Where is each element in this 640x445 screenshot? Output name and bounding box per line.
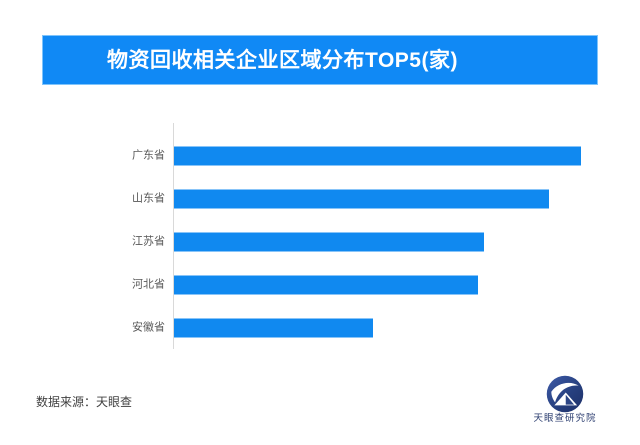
bar-fill bbox=[174, 276, 478, 295]
tianyancha-logo-icon bbox=[546, 375, 584, 413]
bar-category-label: 安徽省 bbox=[132, 323, 165, 334]
bar-fill bbox=[174, 319, 373, 338]
bar-row: 广东省 bbox=[174, 135, 598, 177]
brand-name-label: 天眼查研究院 bbox=[533, 414, 596, 424]
brand-logo: 天眼查研究院 bbox=[524, 375, 606, 430]
bar-row: 河北省 bbox=[174, 264, 598, 306]
bar-category-label: 广东省 bbox=[132, 151, 165, 162]
infographic-canvas: 物资回收相关企业区域分布TOP5(家) 广东省 山东省 江苏省 河北省 安徽省 bbox=[0, 0, 640, 445]
bar-chart: 广东省 山东省 江苏省 河北省 安徽省 bbox=[42, 112, 598, 352]
bar-category-label: 江苏省 bbox=[132, 237, 165, 248]
chart-bars-layer: 广东省 山东省 江苏省 河北省 安徽省 bbox=[174, 123, 598, 349]
bar-row: 安徽省 bbox=[174, 307, 598, 349]
page-title: 物资回收相关企业区域分布TOP5(家) bbox=[107, 50, 458, 71]
bar-category-label: 山东省 bbox=[132, 194, 165, 205]
data-source-note: 数据来源：天眼查 bbox=[36, 396, 132, 408]
bar-row: 江苏省 bbox=[174, 221, 598, 263]
bar-fill bbox=[174, 190, 549, 209]
bar-fill bbox=[174, 233, 484, 252]
title-banner: 物资回收相关企业区域分布TOP5(家) bbox=[42, 35, 598, 85]
bar-fill bbox=[174, 147, 581, 166]
bar-row: 山东省 bbox=[174, 178, 598, 220]
bar-category-label: 河北省 bbox=[132, 280, 165, 291]
